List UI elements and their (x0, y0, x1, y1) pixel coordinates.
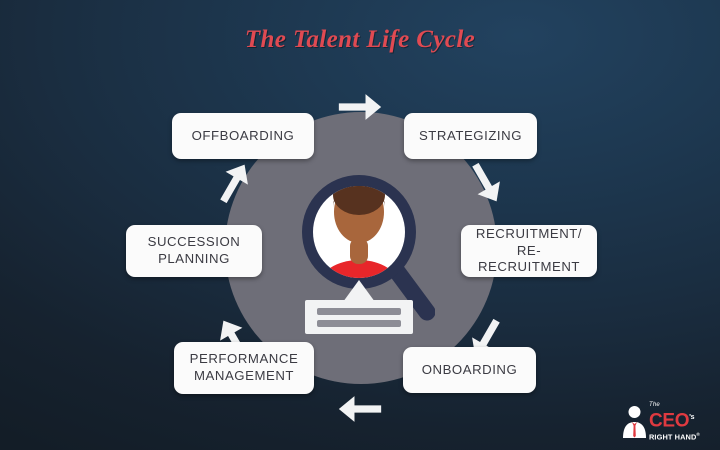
stage-label-text: ONBOARDING (422, 362, 518, 379)
stage-label-recruitment[interactable]: RECRUITMENT/ RE-RECRUITMENT (461, 225, 597, 277)
logo-ceo-text: CEO's (649, 409, 709, 430)
logo-ceo-letters: CEO (649, 410, 689, 431)
logo-right-hand-letters: RIGHT HAND (649, 433, 696, 442)
stage-label-text: SUCCESSION PLANNING (148, 234, 241, 268)
arrow-bottom-icon (337, 386, 383, 432)
logo-the-text: The (649, 402, 709, 409)
logo-right-hand-text: RIGHT HAND® (649, 430, 709, 441)
stage-label-text: RECRUITMENT/ RE-RECRUITMENT (469, 226, 589, 277)
stage-label-offboarding[interactable]: OFFBOARDING (172, 113, 314, 159)
stage-label-text: STRATEGIZING (419, 128, 522, 145)
stage-label-succession-planning[interactable]: SUCCESSION PLANNING (126, 225, 262, 277)
logo-person-icon (622, 404, 647, 438)
page-title: The Talent Life Cycle (0, 26, 720, 54)
stage-label-onboarding[interactable]: ONBOARDING (403, 347, 536, 393)
logo-trademark: ® (696, 432, 699, 437)
magnifying-glass-person-icon (287, 150, 435, 338)
brand-logo[interactable]: The CEO's RIGHT HAND® (622, 400, 708, 440)
logo-wordmark: The CEO's RIGHT HAND® (649, 402, 709, 438)
infographic-slide: The Talent Life Cycle (0, 0, 720, 450)
logo-possessive: 's (689, 414, 694, 421)
stage-label-strategizing[interactable]: STRATEGIZING (404, 113, 537, 159)
stage-label-text: PERFORMANCE MANAGEMENT (190, 351, 299, 385)
stage-label-text: OFFBOARDING (192, 128, 295, 145)
stage-label-performance-management[interactable]: PERFORMANCE MANAGEMENT (174, 342, 314, 394)
arrow-top-icon (337, 84, 383, 130)
